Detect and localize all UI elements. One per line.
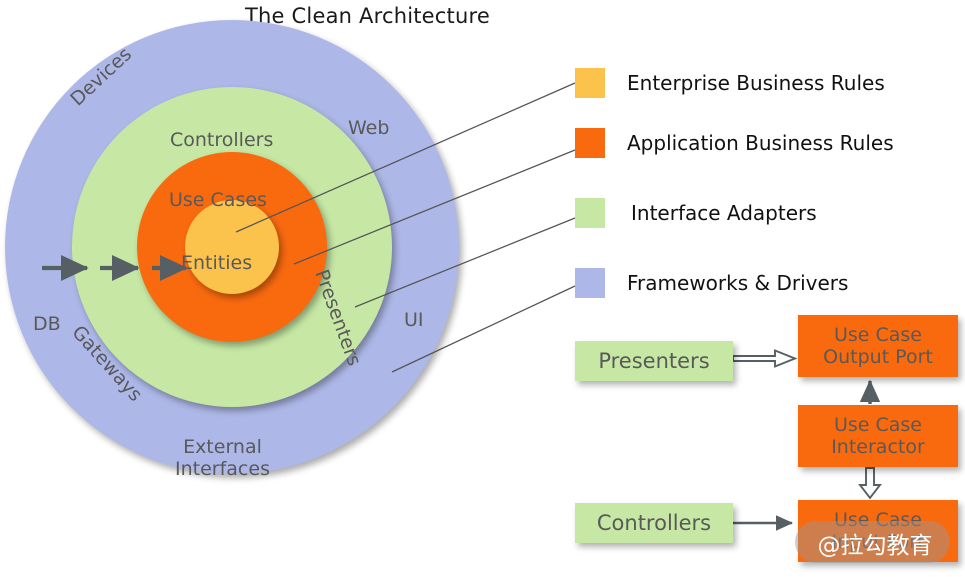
legend-label-interface-adapters: Interface Adapters xyxy=(631,201,817,225)
clean-architecture-diagram: The Clean Architecture Devices Web DB UI… xyxy=(0,0,965,577)
legend-item-interface-adapters: Interface Adapters xyxy=(575,198,817,228)
legend-label-enterprise-business-rules: Enterprise Business Rules xyxy=(627,71,885,95)
watermark-text: @拉勾教育 xyxy=(805,528,945,558)
flow-box-output-port-line2: Output Port xyxy=(823,346,933,368)
legend-swatch-frameworks-and-drivers xyxy=(575,268,605,298)
legend-swatch-enterprise-business-rules xyxy=(575,68,605,98)
flow-box-controllers[interactable]: Controllers xyxy=(575,503,733,543)
legend-swatch-application-business-rules xyxy=(575,128,605,158)
connector-interactor-to-input-port xyxy=(860,468,880,498)
flow-box-interactor-line1: Use Case xyxy=(831,414,925,436)
legend-label-frameworks-and-drivers: Frameworks & Drivers xyxy=(627,271,848,295)
flow-box-output-port-line1: Use Case xyxy=(823,324,933,346)
connector-presenters-to-output-port xyxy=(733,351,795,367)
flow-box-presenters[interactable]: Presenters xyxy=(575,341,733,381)
legend-item-enterprise-business-rules: Enterprise Business Rules xyxy=(575,68,885,98)
legend-item-frameworks-and-drivers: Frameworks & Drivers xyxy=(575,268,848,298)
flow-box-use-case-output-port[interactable]: Use Case Output Port xyxy=(798,315,958,377)
legend-swatch-interface-adapters xyxy=(575,198,605,228)
flow-box-use-case-interactor[interactable]: Use Case Interactor xyxy=(798,405,958,467)
flow-box-interactor-line2: Interactor xyxy=(831,436,925,458)
legend-item-application-business-rules: Application Business Rules xyxy=(575,128,894,158)
concentric-rings: Devices Web DB UI Gateways Presenters Co… xyxy=(5,20,460,475)
inbound-flow-arrows xyxy=(5,20,470,515)
legend-label-application-business-rules: Application Business Rules xyxy=(627,131,894,155)
